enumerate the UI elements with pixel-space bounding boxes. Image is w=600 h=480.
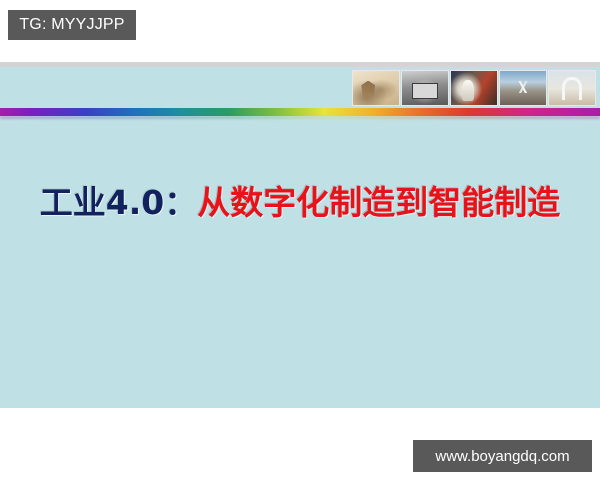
rainbow-divider: [0, 108, 600, 116]
site-watermark: www.boyangdq.com: [413, 440, 592, 472]
thumb-sepia-temple-gate: [352, 70, 400, 106]
header-photo-strip: [352, 70, 596, 106]
title-part-subtitle: 从数字化制造到智能制造: [197, 183, 560, 222]
thumb-white-memorial-arch: [548, 70, 596, 106]
watermark-label: www.boyangdq.com: [435, 448, 569, 465]
tg-badge-label: TG: MYYJJPP: [19, 16, 124, 34]
tg-overlay-badge: TG: MYYJJPP: [8, 10, 136, 40]
thumb-modern-plaza-canopy: [499, 70, 547, 106]
title-part-industry40: 工业4.0：: [40, 183, 197, 222]
slide-top-band: [0, 62, 600, 67]
slide-canvas: 工业4.0：从数字化制造到智能制造: [0, 62, 600, 408]
thumb-bw-courtyard-house: [401, 70, 449, 106]
slide-title: 工业4.0：从数字化制造到智能制造: [0, 186, 600, 219]
thumb-white-statue: [450, 70, 498, 106]
